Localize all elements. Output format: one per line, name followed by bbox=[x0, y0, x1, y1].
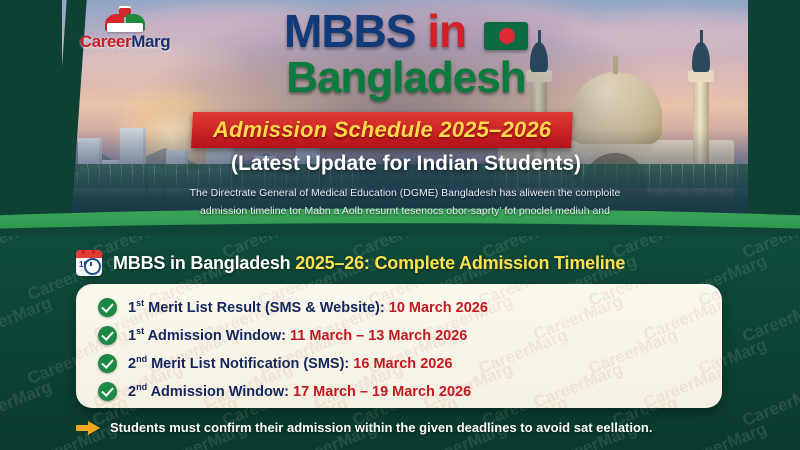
title-line-1: MBBS in bbox=[196, 8, 616, 54]
footer-note: Students must confirm their admission wi… bbox=[76, 420, 652, 435]
timeline-row-label: Admission Window: bbox=[144, 328, 290, 344]
watermark: CareerMarg bbox=[0, 377, 55, 431]
timeline-row-ordinal: 1 bbox=[128, 300, 136, 316]
timeline-row-ordinal: 1 bbox=[128, 328, 136, 344]
timeline-row-text: 1st Merit List Result (SMS & Website): 1… bbox=[128, 298, 488, 316]
timeline-row-label: Admission Window: bbox=[147, 384, 293, 400]
watermark: CareerMarg bbox=[675, 419, 770, 450]
timeline-row: 2nd Admission Window: 17 March – 19 Marc… bbox=[98, 377, 722, 405]
title-line-2: Bangladesh bbox=[196, 54, 616, 102]
bangladesh-flag-icon bbox=[484, 22, 528, 50]
check-circle-icon bbox=[98, 382, 117, 401]
infographic-poster: CareerMarg MBBS in Bangladesh Admission … bbox=[0, 0, 800, 450]
hero-paragraph-line-1: The Directrate General of Medical Educat… bbox=[130, 184, 680, 202]
admission-schedule-banner: Admission Schedule 2025–2026 bbox=[191, 112, 573, 148]
hero-subtitle: (Latest Update for Indian Students) bbox=[156, 152, 656, 176]
calendar-clock-icon: 10 bbox=[76, 250, 102, 276]
timeline-row-ordinal-suffix: nd bbox=[136, 354, 147, 364]
timeline-row-ordinal-suffix: st bbox=[136, 326, 144, 336]
timeline-row-text: 2nd Admission Window: 17 March – 19 Marc… bbox=[128, 382, 471, 400]
timeline-row-ordinal: 2 bbox=[128, 356, 136, 372]
right-green-edge bbox=[748, 0, 800, 248]
book-graduation-logo-icon bbox=[104, 6, 146, 32]
banner-label: Admission Schedule 2025–2026 bbox=[213, 117, 551, 143]
title-mbbs: MBBS bbox=[284, 5, 415, 57]
timeline-row-date: 17 March – 19 March 2026 bbox=[293, 384, 471, 400]
check-circle-icon bbox=[98, 298, 117, 317]
timeline-row-text: 2nd Merit List Notification (SMS): 16 Ma… bbox=[128, 354, 452, 372]
logo-career-text: Career bbox=[80, 32, 131, 51]
timeline-row-date: 16 March 2026 bbox=[353, 356, 452, 372]
left-green-edge bbox=[0, 0, 62, 248]
timeline-card: CareerMargCareerMargCareerMargCareerMarg… bbox=[76, 284, 722, 408]
orange-arrow-right-icon bbox=[76, 421, 100, 435]
hero-paragraph-line-2: admission timeline tor Mabn a Aolb resur… bbox=[130, 202, 680, 220]
timeline-row: 1st Merit List Result (SMS & Website): 1… bbox=[98, 293, 722, 321]
timeline-header: 10 MBBS in Bangladesh 2025–26: Complete … bbox=[76, 250, 625, 276]
logo-marg-text: Marg bbox=[131, 32, 170, 51]
timeline-row-ordinal: 2 bbox=[128, 384, 136, 400]
timeline-row-ordinal-suffix: st bbox=[136, 298, 144, 308]
clock-icon bbox=[84, 258, 101, 275]
hero-paragraph: The Directrate General of Medical Educat… bbox=[130, 184, 680, 220]
timeline-row-label: Merit List Result (SMS & Website): bbox=[144, 300, 389, 316]
logo-wordmark: CareerMarg bbox=[66, 32, 184, 52]
timeline-heading-white: MBBS in Bangladesh bbox=[113, 253, 290, 273]
footer-note-text: Students must confirm their admission wi… bbox=[110, 420, 652, 435]
page-title: MBBS in Bangladesh bbox=[196, 8, 616, 102]
watermark: CareerMarg bbox=[0, 293, 55, 347]
timeline-row-date: 10 March 2026 bbox=[389, 300, 488, 316]
title-in: in bbox=[427, 5, 466, 57]
timeline-row: 1st Admission Window: 11 March – 13 Marc… bbox=[98, 321, 722, 349]
timeline-heading: MBBS in Bangladesh 2025–26: Complete Adm… bbox=[113, 253, 625, 274]
timeline-list: 1st Merit List Result (SMS & Website): 1… bbox=[76, 284, 722, 405]
watermark: CareerMarg bbox=[740, 293, 800, 347]
timeline-row: 2nd Merit List Notification (SMS): 16 Ma… bbox=[98, 349, 722, 377]
timeline-row-label: Merit List Notification (SMS): bbox=[147, 356, 353, 372]
watermark: CareerMarg bbox=[740, 377, 800, 431]
check-circle-icon bbox=[98, 326, 117, 345]
check-circle-icon bbox=[98, 354, 117, 373]
timeline-row-text: 1st Admission Window: 11 March – 13 Marc… bbox=[128, 326, 467, 344]
careermarg-logo[interactable]: CareerMarg bbox=[66, 6, 184, 52]
timeline-heading-yellow: 2025–26: Complete Admission Timeline bbox=[295, 253, 625, 273]
watermark: CareerMarg bbox=[0, 236, 55, 263]
timeline-row-date: 11 March – 13 March 2026 bbox=[290, 328, 467, 344]
timeline-row-ordinal-suffix: nd bbox=[136, 382, 147, 392]
